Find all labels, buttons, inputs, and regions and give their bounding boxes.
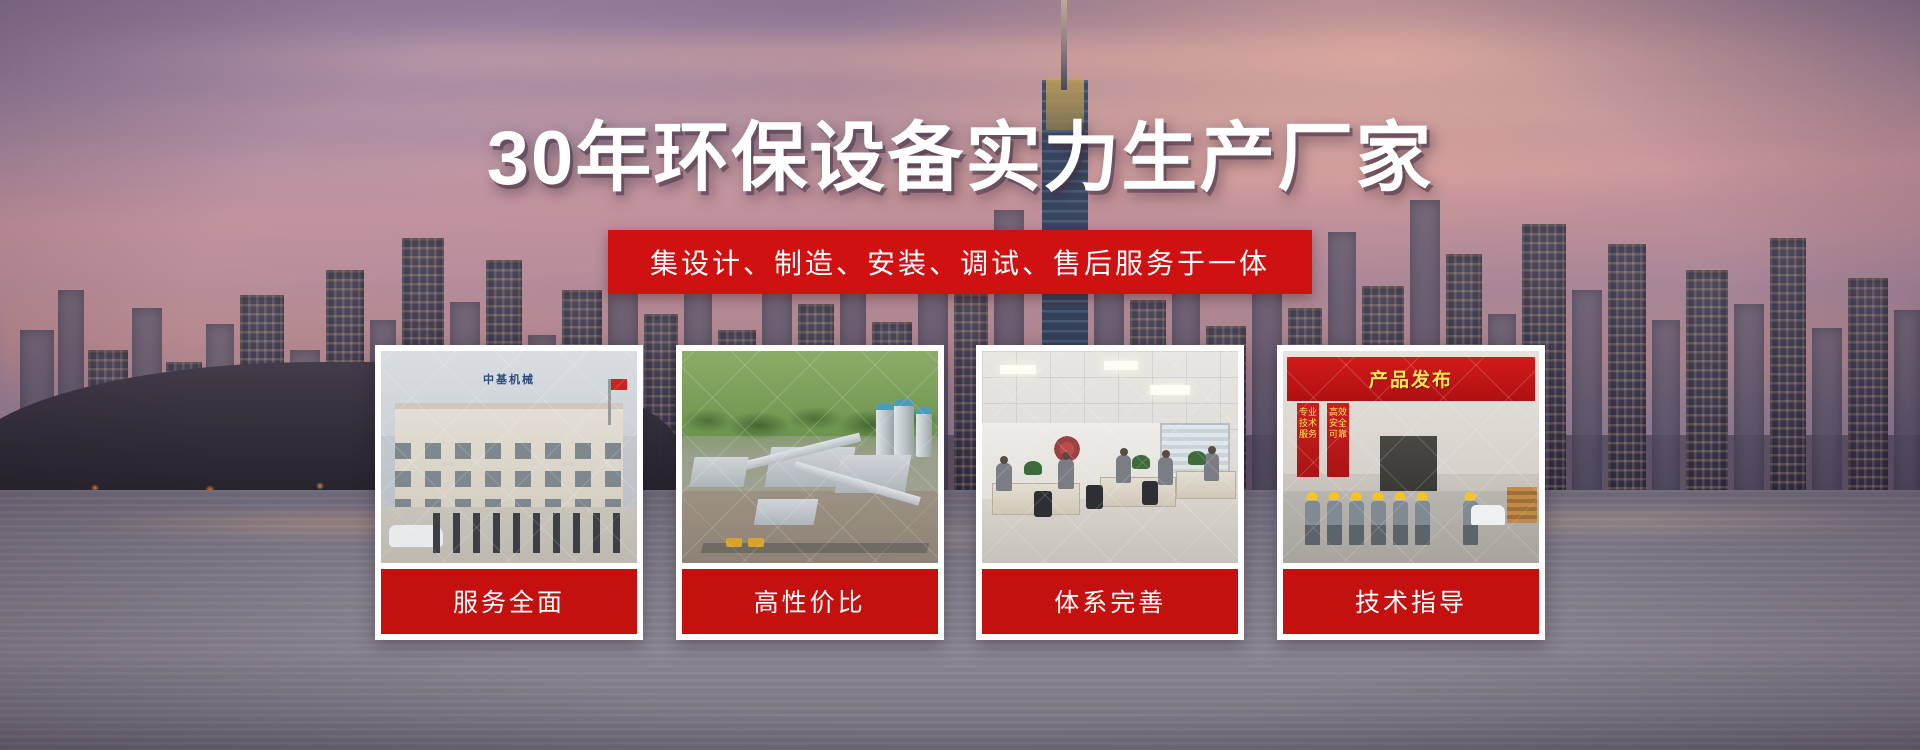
headline-container: 30年环保设备实力生产厂家 [0, 96, 1920, 206]
workshop-banner-text: 产品发布 [1369, 365, 1453, 392]
feature-card-system[interactable]: 体系完善 [976, 345, 1244, 640]
card-label-system: 体系完善 [982, 569, 1238, 634]
page-title: 30年环保设备实力生产厂家 [487, 96, 1434, 206]
feature-card-guidance[interactable]: 产品发布 专业 技术服务 高效 安全可靠 [1277, 345, 1545, 640]
promo-banner: 30年环保设备实力生产厂家 集设计、制造、安装、调试、售后服务于一体 中基机械 [0, 0, 1920, 750]
workshop-vertical-banner-right: 高效 安全可靠 [1327, 403, 1349, 440]
subtitle-bar: 集设计、制造、安装、调试、售后服务于一体 [608, 230, 1312, 294]
workshop-vertical-banner-left: 专业 技术服务 [1297, 403, 1319, 440]
cloud-streak [0, 38, 1920, 78]
card-photo-workshop: 产品发布 专业 技术服务 高效 安全可靠 [1283, 351, 1539, 563]
feature-cards-row: 中基机械 服务全面 [375, 345, 1545, 640]
card-photo-headquarters: 中基机械 [381, 351, 637, 563]
building-sign-text: 中基机械 [483, 371, 535, 387]
subtitle-container: 集设计、制造、安装、调试、售后服务于一体 [0, 230, 1920, 294]
card-label-value: 高性价比 [682, 569, 938, 634]
card-label-service: 服务全面 [381, 569, 637, 634]
card-photo-plant [682, 351, 938, 563]
feature-card-value[interactable]: 高性价比 [676, 345, 944, 640]
feature-card-service[interactable]: 中基机械 服务全面 [375, 345, 643, 640]
card-label-guidance: 技术指导 [1283, 569, 1539, 634]
card-photo-office [982, 351, 1238, 563]
